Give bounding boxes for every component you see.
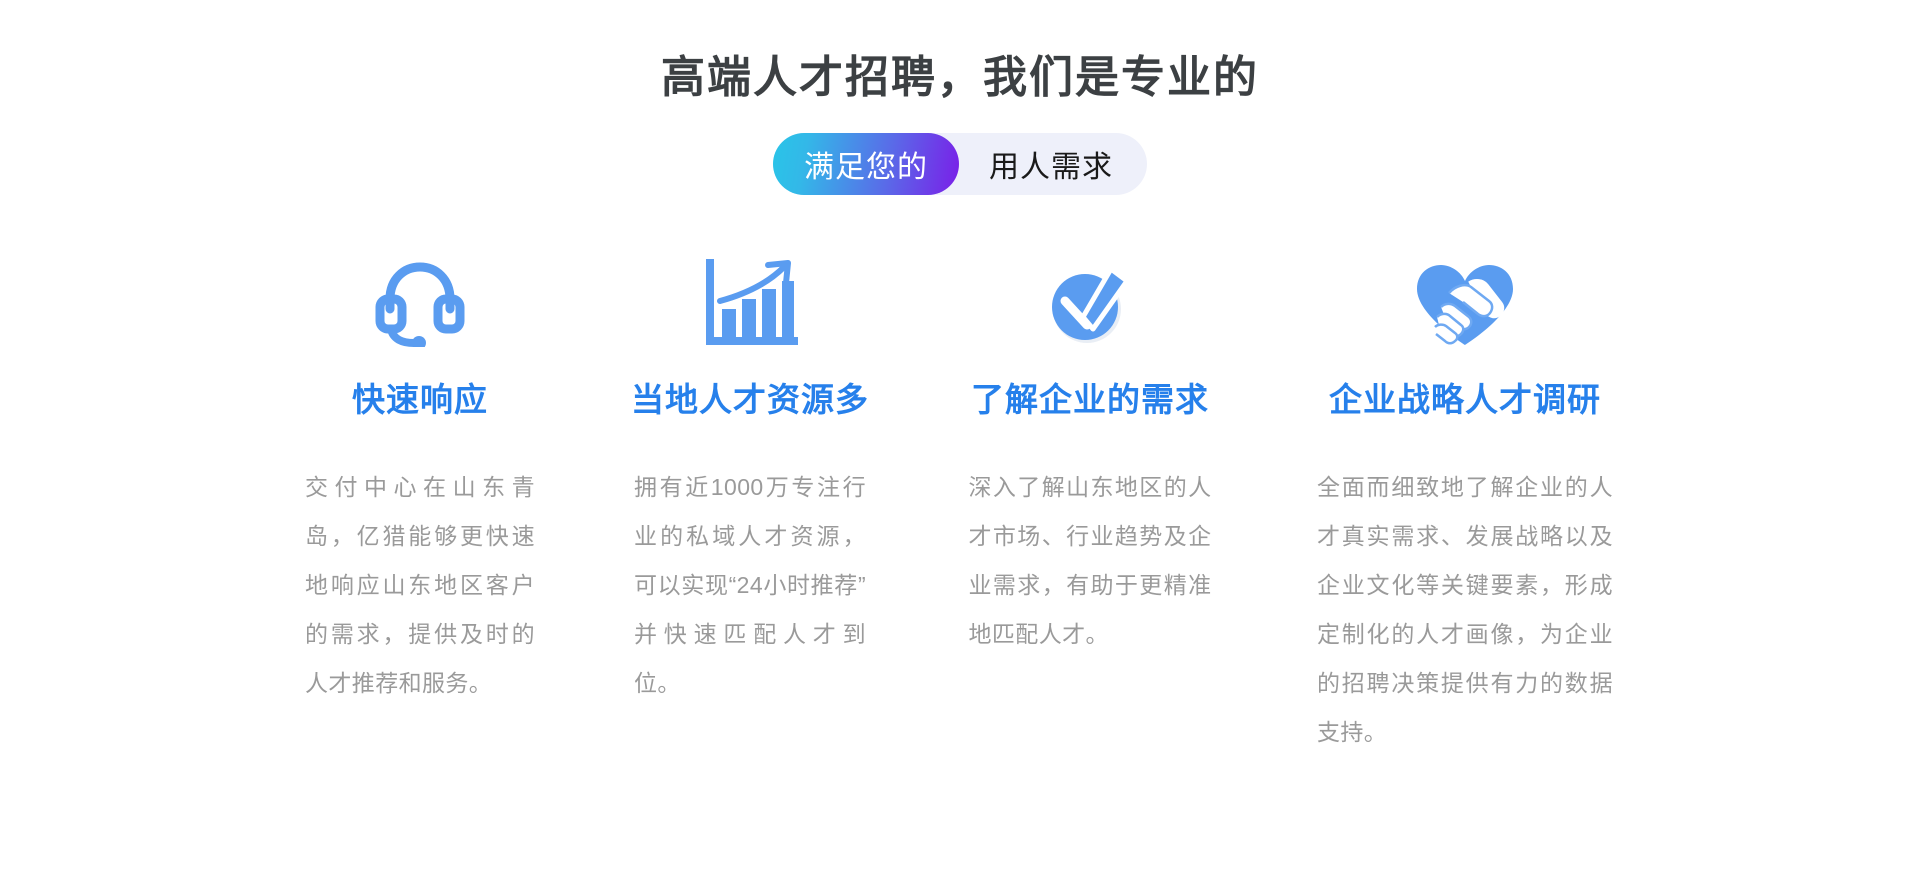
feature-description: 交付中心在山东青岛，亿猎能够更快速地响应山东地区客户的需求，提供及时的人才推荐和… (305, 463, 535, 708)
page-title: 高端人才招聘，我们是专业的 (0, 52, 1920, 105)
feature-card-strategy-research: 企业战略人才调研 全面而细致地了解企业的人才真实需求、发展战略以及企业文化等关键… (1265, 251, 1665, 757)
handshake-heart-icon (1411, 251, 1519, 347)
feature-card-local-talent-pool: 当地人才资源多 拥有近1000万专注行业的私域人才资源，可以实现“24小时推荐”… (585, 251, 915, 708)
feature-description: 全面而细致地了解企业的人才真实需求、发展战略以及企业文化等关键要素，形成定制化的… (1317, 463, 1613, 757)
feature-title: 企业战略人才调研 (1329, 373, 1601, 421)
feature-title: 当地人才资源多 (631, 373, 869, 421)
feature-title: 了解企业的需求 (971, 373, 1209, 421)
feature-card-understand-needs: 了解企业的需求 深入了解山东地区的人才市场、行业趋势及企业需求，有助于更精准地匹… (915, 251, 1265, 659)
badge-wrapper: 满足您的 用人需求 (0, 133, 1920, 195)
heading-block: 高端人才招聘，我们是专业的 满足您的 用人需求 (0, 0, 1920, 195)
headset-support-icon (374, 251, 466, 347)
features-row: 快速响应 交付中心在山东青岛，亿猎能够更快速地响应山东地区客户的需求，提供及时的… (0, 251, 1920, 757)
feature-highlights-page: 高端人才招聘，我们是专业的 满足您的 用人需求 快速响应 交付中心在山东青岛，亿… (0, 0, 1920, 896)
value-proposition-badge: 满足您的 用人需求 (773, 133, 1147, 195)
feature-card-fast-response: 快速响应 交付中心在山东青岛，亿猎能够更快速地响应山东地区客户的需求，提供及时的… (255, 251, 585, 708)
badge-plain-label: 用人需求 (959, 142, 1113, 186)
feature-title: 快速响应 (352, 373, 488, 421)
feature-description: 拥有近1000万专注行业的私域人才资源，可以实现“24小时推荐”并快速匹配人才到… (634, 463, 866, 708)
feature-description: 深入了解山东地区的人才市场、行业趋势及企业需求，有助于更精准地匹配人才。 (969, 463, 1212, 659)
growth-bar-chart-icon (702, 251, 798, 347)
badge-highlight-label: 满足您的 (773, 133, 959, 195)
check-circle-icon (1043, 251, 1137, 347)
